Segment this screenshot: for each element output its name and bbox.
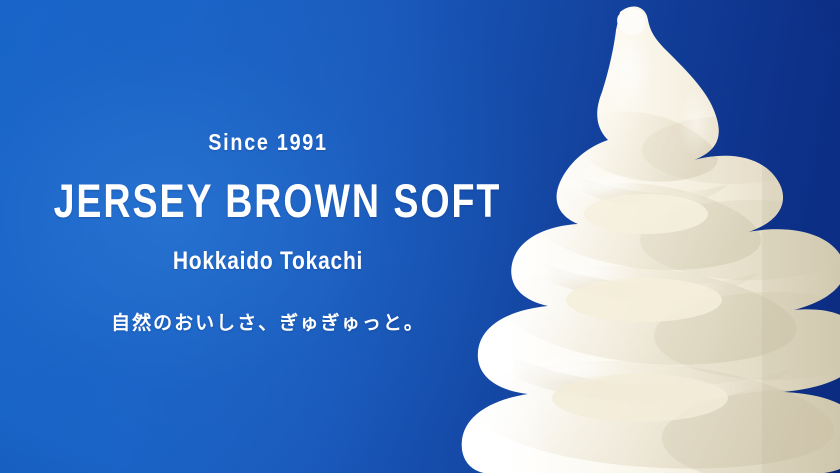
promo-banner: Since 1991 JERSEY BROWN SOFT Hokkaido To… <box>0 0 840 473</box>
cream-right-shadow <box>762 0 840 473</box>
highlight-2 <box>528 257 636 287</box>
since-label: Since 1991 <box>38 131 499 154</box>
brand-text-block: Since 1991 JERSEY BROWN SOFT Hokkaido To… <box>0 131 536 333</box>
region-label: Hokkaido Tokachi <box>43 249 493 274</box>
highlight-4 <box>678 88 714 156</box>
coil-shadow-1 <box>642 116 822 184</box>
highlight-tip <box>602 24 654 116</box>
tagline: 自然のおいしさ、ぎゅぎゅっと。 <box>0 314 536 333</box>
highlight-1 <box>558 172 646 200</box>
cream-pocket-1 <box>584 194 708 234</box>
brand-headline: JERSEY BROWN SOFT <box>54 177 483 224</box>
highlight-3 <box>508 352 628 384</box>
